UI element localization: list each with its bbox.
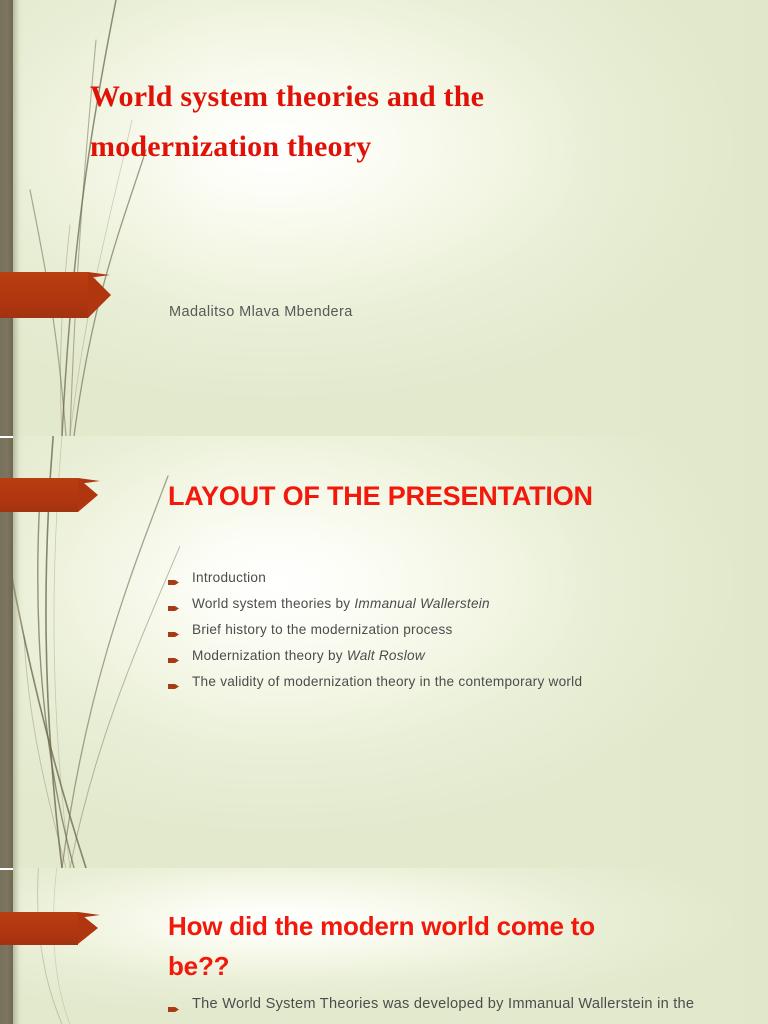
left-accent-band-shadow: [13, 868, 24, 1024]
arrow-banner-icon: [0, 478, 78, 512]
arrow-pennant-bullet-icon: [168, 1001, 179, 1008]
list-item-text: Modernization theory by: [192, 648, 347, 663]
arrow-pennant-bullet-icon: [168, 600, 179, 607]
author-name: Madalitso Mlava Mbendera: [169, 304, 353, 320]
grass-blades-decoration-icon: [0, 868, 180, 1024]
list-item: The validity of modernization theory in …: [168, 674, 748, 689]
arrow-banner-icon: [0, 912, 78, 945]
arrow-banner-icon: [0, 272, 88, 318]
list-item: World system theories by Immanual Waller…: [168, 596, 748, 611]
page-title-line-1: World system theories and the: [90, 72, 710, 122]
arrow-pennant-bullet-icon: [168, 574, 179, 581]
list-item-emphasis: Immanual Wallerstein: [354, 596, 489, 611]
slide-modern-world: How did the modern world come to be?? Th…: [0, 868, 768, 1024]
list-item-emphasis: Walt Roslow: [347, 648, 425, 663]
slide-deck-viewport[interactable]: World system theories and the modernizat…: [0, 0, 768, 1024]
left-accent-band: [0, 0, 13, 436]
slide-heading-line-2: be??: [168, 946, 708, 986]
layout-bullet-list: Introduction World system theories by Im…: [168, 570, 748, 689]
slide-boundary-tick: [0, 436, 13, 438]
slide-boundary-tick: [0, 868, 13, 870]
list-item: Introduction: [168, 570, 748, 585]
list-item: Brief history to the modernization proce…: [168, 622, 748, 637]
list-item-text: Brief history to the modernization proce…: [192, 622, 453, 637]
slide-layout: LAYOUT OF THE PRESENTATION Introduction …: [0, 436, 768, 868]
list-item-text: The World System Theories was developed …: [192, 996, 694, 1012]
slide-title: World system theories and the modernizat…: [0, 0, 768, 436]
arrow-pennant-bullet-icon: [168, 678, 179, 685]
slide-heading-line-1: How did the modern world come to: [168, 906, 708, 946]
arrow-pennant-bullet-icon: [168, 652, 179, 659]
list-item-text: World system theories by: [192, 596, 354, 611]
page-title-line-2: modernization theory: [90, 122, 710, 172]
list-item: Modernization theory by Walt Roslow: [168, 648, 748, 663]
list-item-text: The validity of modernization theory in …: [192, 674, 582, 689]
list-item: The World System Theories was developed …: [168, 996, 768, 1013]
left-accent-band-shadow: [13, 0, 24, 436]
modern-world-bullet-list: The World System Theories was developed …: [168, 996, 768, 1013]
list-item-text: Introduction: [192, 570, 266, 585]
slide-heading: LAYOUT OF THE PRESENTATION: [168, 475, 728, 517]
left-accent-band: [0, 868, 13, 1024]
grass-blades-decoration-icon: [0, 0, 180, 436]
arrow-pennant-bullet-icon: [168, 626, 179, 633]
